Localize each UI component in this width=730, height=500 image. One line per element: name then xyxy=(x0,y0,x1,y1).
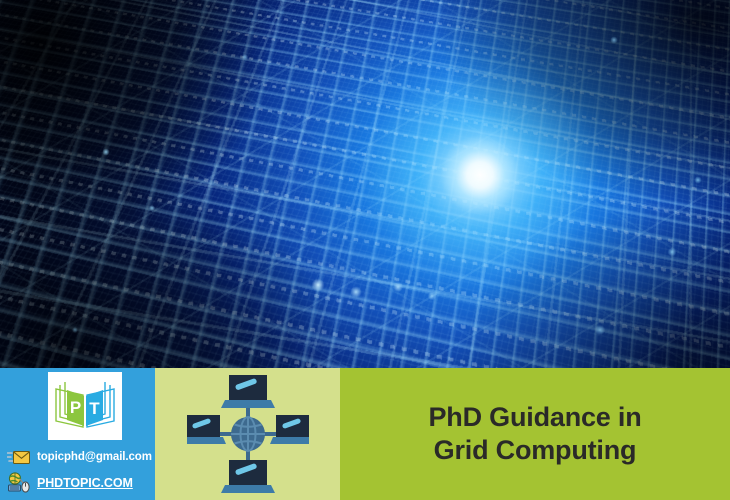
poster-page: P T xyxy=(0,0,730,500)
website-url: PHDTOPIC.COM xyxy=(37,476,133,490)
grid-computing-icon xyxy=(155,368,340,500)
email-address: topicphd@gmail.com xyxy=(37,451,152,463)
contact-panel: P T xyxy=(0,368,155,500)
svg-text:P: P xyxy=(70,398,81,417)
email-icon xyxy=(6,446,32,468)
open-book-logo-icon: P T xyxy=(52,377,118,435)
laptop-top xyxy=(221,375,275,408)
title-line-2: Grid Computing xyxy=(428,434,641,467)
title-panel: PhD Guidance in Grid Computing xyxy=(340,368,730,500)
laptop-bottom xyxy=(221,460,275,493)
laptop-left xyxy=(187,415,226,444)
footer-bar: P T xyxy=(0,368,730,500)
globe-laptops-network-icon xyxy=(187,375,309,493)
laptop-right xyxy=(270,415,309,444)
hero-image xyxy=(0,0,730,368)
grid-computing-panel xyxy=(155,368,340,500)
contact-row-email[interactable]: topicphd@gmail.com xyxy=(6,446,152,468)
poster-title: PhD Guidance in Grid Computing xyxy=(428,401,641,467)
svg-text:T: T xyxy=(89,399,100,418)
brand-logo: P T xyxy=(48,372,122,440)
website-icon xyxy=(6,472,32,494)
title-line-1: PhD Guidance in xyxy=(428,401,641,434)
hero-glow-core xyxy=(0,0,730,368)
contact-row-website[interactable]: PHDTOPIC.COM xyxy=(6,472,133,494)
